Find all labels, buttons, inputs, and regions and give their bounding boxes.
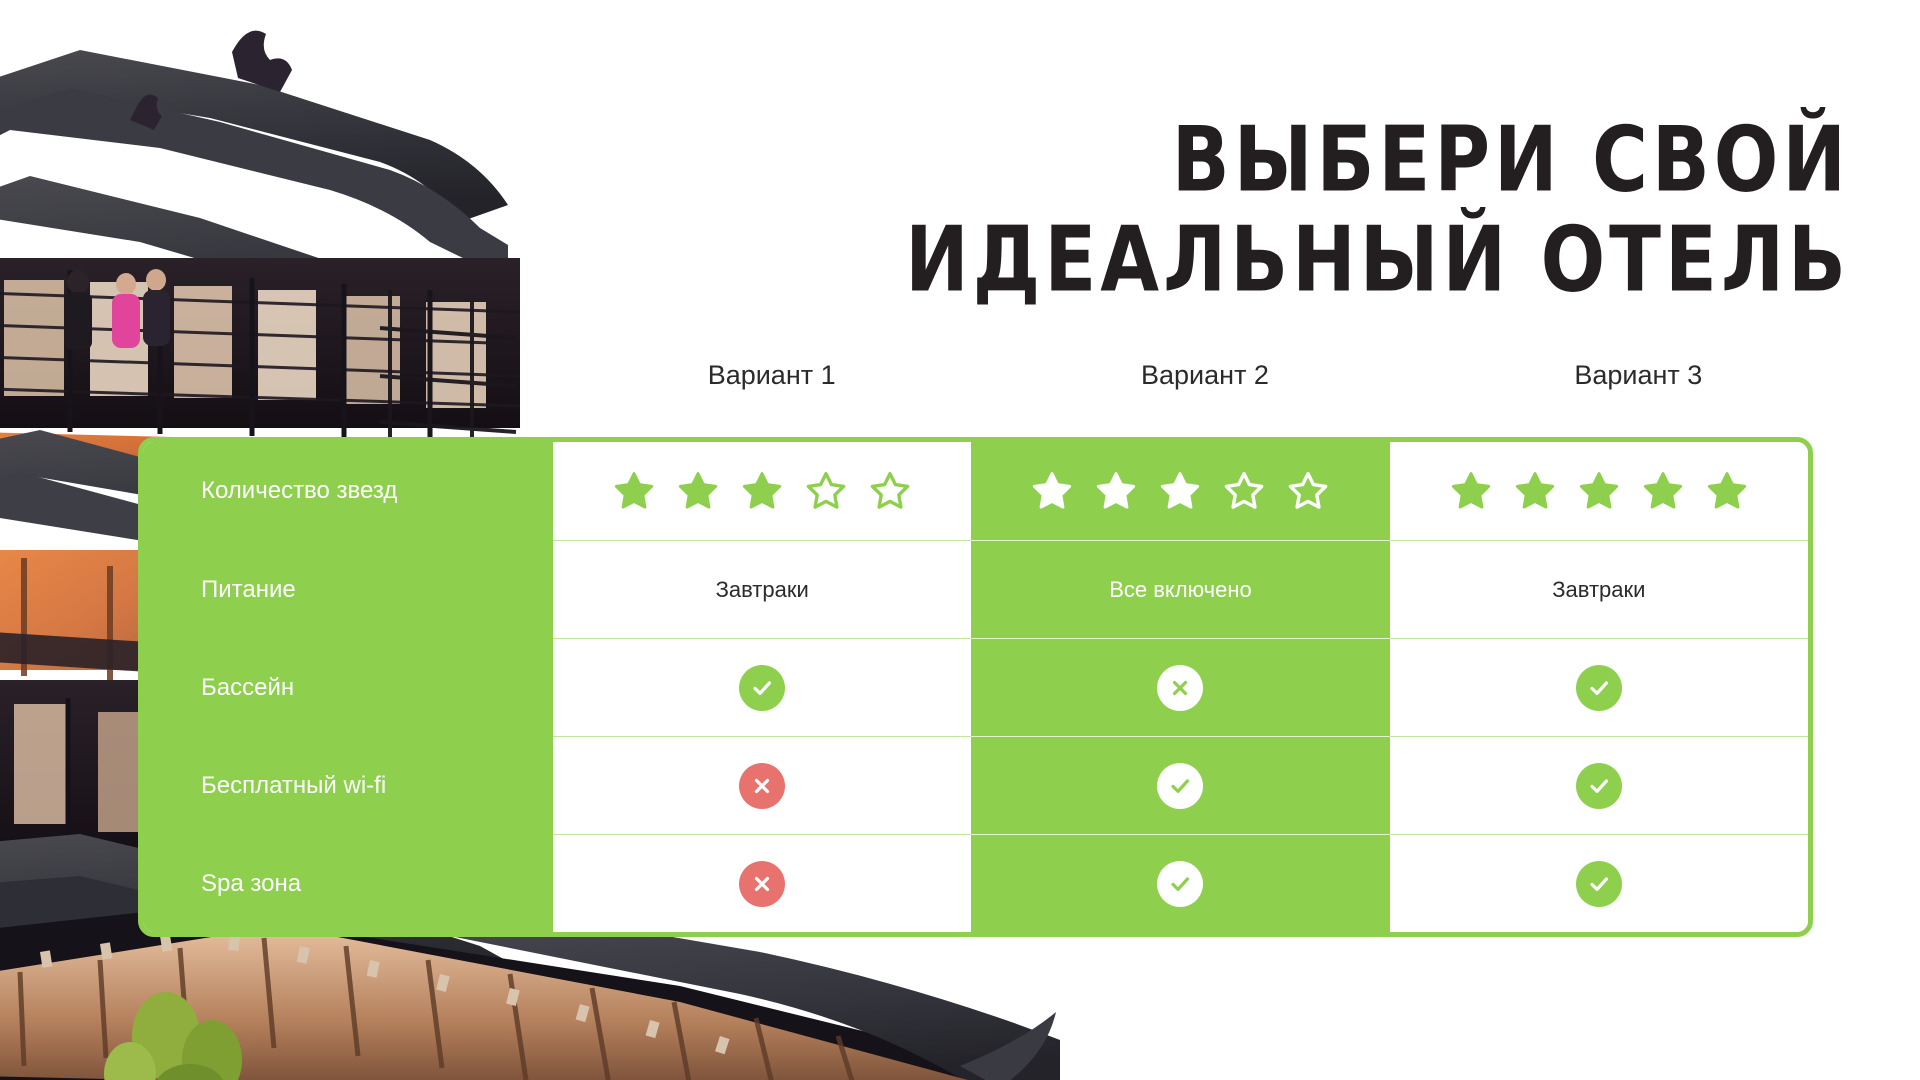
star-filled-icon <box>614 471 654 511</box>
page-title-line-1: Выбери свой <box>790 109 1850 209</box>
column-header-variant-2: Вариант 2 <box>988 360 1421 391</box>
row-label: Количество звезд <box>143 442 553 540</box>
check-icon <box>739 665 785 711</box>
cell-r4-c2[interactable] <box>971 736 1389 834</box>
slide-root: Выбери свой Идеальный отель Вариант 1 Ва… <box>0 0 1920 1080</box>
cell-r1-c3[interactable] <box>1390 442 1808 540</box>
cell-r1-c2[interactable] <box>971 442 1389 540</box>
cross-icon <box>1157 665 1203 711</box>
cell-r3-c3[interactable] <box>1390 638 1808 736</box>
row-label: Бассейн <box>143 638 553 736</box>
table-column-headers: Вариант 1 Вариант 2 Вариант 3 <box>555 360 1855 391</box>
cell-r3-c1[interactable] <box>553 638 971 736</box>
page-title: Выбери свой Идеальный отель <box>790 109 1850 310</box>
cell-r1-c1[interactable] <box>553 442 971 540</box>
page-title-line-2: Идеальный отель <box>790 209 1850 309</box>
table-row: ПитаниеЗавтракиВсе включеноЗавтраки <box>143 540 1808 638</box>
star-filled-icon <box>1032 471 1072 511</box>
check-icon <box>1157 763 1203 809</box>
cell-r5-c1[interactable] <box>553 834 971 932</box>
check-icon <box>1576 861 1622 907</box>
check-icon <box>1576 665 1622 711</box>
row-label: Питание <box>143 540 553 638</box>
cell-r5-c2[interactable] <box>971 834 1389 932</box>
visitors-silhouette <box>64 269 170 350</box>
star-filled-icon <box>1096 471 1136 511</box>
cross-icon <box>739 861 785 907</box>
row-label: Бесплатный wi-fi <box>143 736 553 834</box>
star-filled-icon <box>678 471 718 511</box>
star-filled-icon <box>1160 471 1200 511</box>
star-rating <box>614 471 910 511</box>
star-outline-icon <box>1288 471 1328 511</box>
row-label: Spa зона <box>143 834 553 932</box>
cell-r3-c2[interactable] <box>971 638 1389 736</box>
cell-r2-c3[interactable]: Завтраки <box>1390 540 1808 638</box>
star-rating <box>1451 471 1747 511</box>
check-icon <box>1576 763 1622 809</box>
star-rating <box>1032 471 1328 511</box>
table-row: Количество звезд <box>143 442 1808 540</box>
foliage <box>104 992 242 1080</box>
column-header-variant-3: Вариант 3 <box>1422 360 1855 391</box>
column-header-variant-1: Вариант 1 <box>555 360 988 391</box>
cell-r4-c3[interactable] <box>1390 736 1808 834</box>
star-outline-icon <box>1224 471 1264 511</box>
table-row: Бассейн <box>143 638 1808 736</box>
cross-icon <box>739 763 785 809</box>
cell-r5-c3[interactable] <box>1390 834 1808 932</box>
comparison-table: Количество звездПитаниеЗавтракиВсе включ… <box>138 437 1813 937</box>
table-row: Бесплатный wi-fi <box>143 736 1808 834</box>
star-filled-icon <box>1515 471 1555 511</box>
star-filled-icon <box>1451 471 1491 511</box>
star-filled-icon <box>1579 471 1619 511</box>
star-filled-icon <box>1643 471 1683 511</box>
star-outline-icon <box>870 471 910 511</box>
star-filled-icon <box>1707 471 1747 511</box>
cell-r4-c1[interactable] <box>553 736 971 834</box>
cell-r2-c2[interactable]: Все включено <box>971 540 1389 638</box>
star-filled-icon <box>742 471 782 511</box>
table-row: Spa зона <box>143 834 1808 932</box>
star-outline-icon <box>806 471 846 511</box>
cell-r2-c1[interactable]: Завтраки <box>553 540 971 638</box>
check-icon <box>1157 861 1203 907</box>
